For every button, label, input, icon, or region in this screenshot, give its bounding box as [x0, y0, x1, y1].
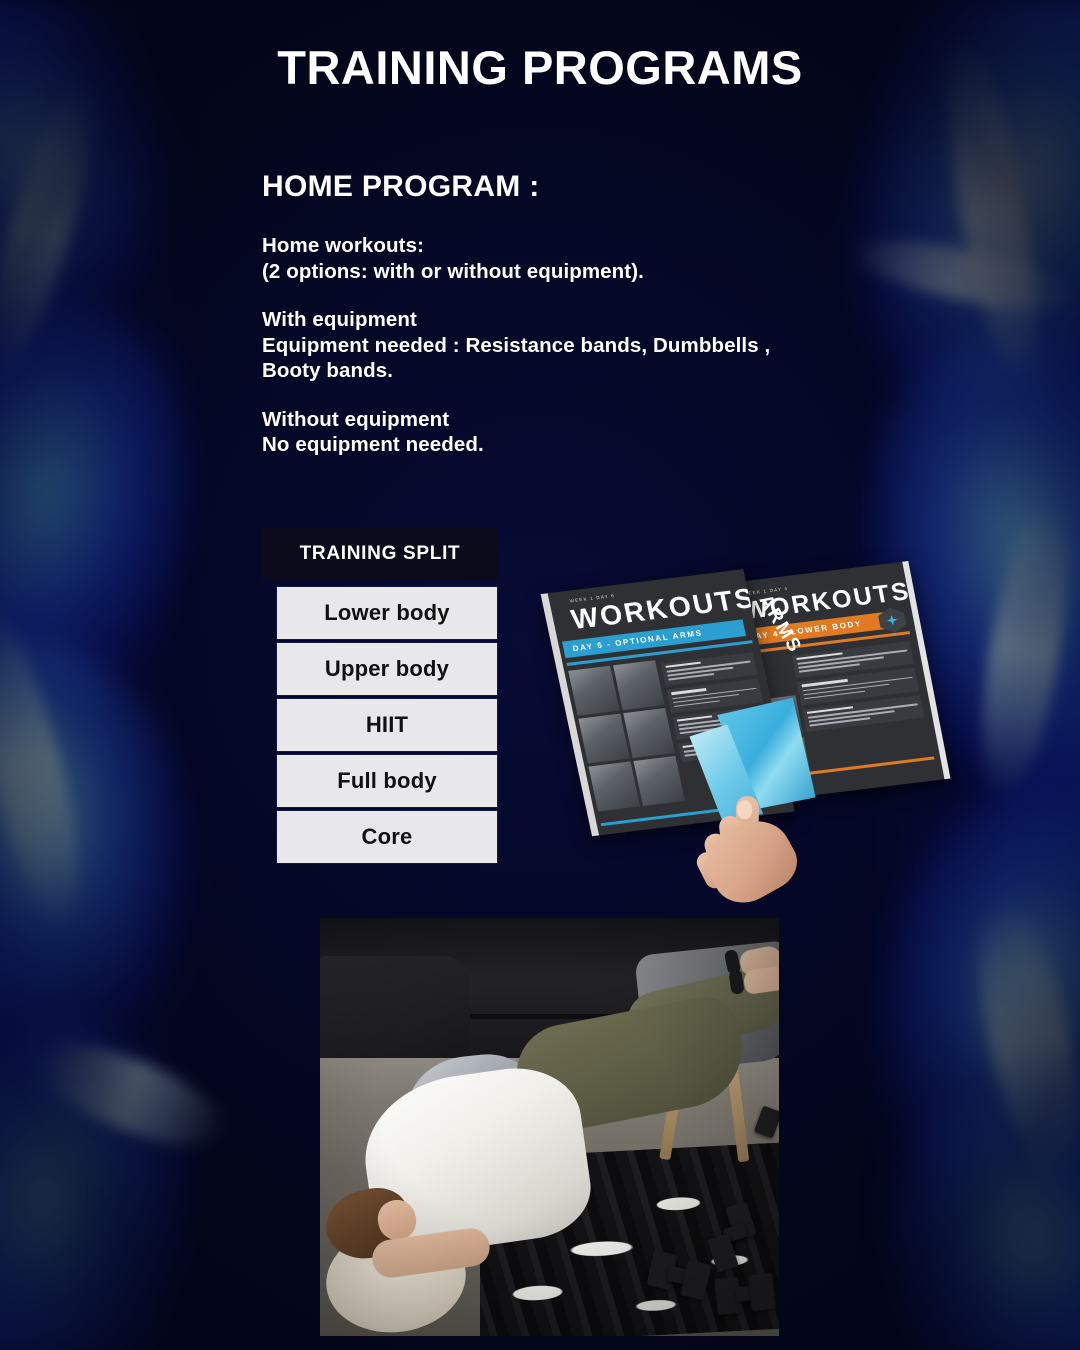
- body-line: (2 options: with or without equipment).: [262, 259, 902, 285]
- text-block-with-equipment: With equipment Equipment needed : Resist…: [262, 307, 902, 384]
- brochure-booklet: WEEK 1 DAY 4 WORKOUTS DAY 4 - LOWER BODY: [538, 514, 942, 856]
- brochure-right-text: [792, 641, 925, 736]
- body-line: With equipment: [262, 307, 902, 333]
- table-cell-label: Core: [362, 824, 413, 850]
- table-row[interactable]: Full body: [276, 754, 498, 808]
- fingernail: [737, 800, 752, 819]
- exercise-thumbnail: [568, 666, 619, 716]
- text-block-home-workouts: Home workouts: (2 options: with or witho…: [262, 233, 902, 284]
- brand-logo-icon: [877, 606, 908, 635]
- exercise-thumbnail: [589, 761, 640, 811]
- exercise-thumbnail: [633, 756, 684, 806]
- section-heading: HOME PROGRAM :: [262, 170, 540, 204]
- table-row[interactable]: HIIT: [276, 698, 498, 752]
- page-title: TRAINING PROGRAMS: [0, 40, 1080, 95]
- table-row[interactable]: Lower body: [276, 586, 498, 640]
- brochure-image: WEEK 1 DAY 4 WORKOUTS DAY 4 - LOWER BODY: [536, 528, 936, 873]
- section-body: Home workouts: (2 options: with or witho…: [262, 233, 902, 458]
- photo-vignette: [320, 918, 779, 1336]
- training-split-header: TRAINING SPLIT: [262, 528, 498, 580]
- table-cell-label: HIIT: [366, 712, 408, 738]
- body-line: Booty bands.: [262, 358, 902, 384]
- table-row[interactable]: Core: [276, 810, 498, 864]
- text-block-without-equipment: Without equipment No equipment needed.: [262, 407, 902, 458]
- slide-content: TRAINING PROGRAMS HOME PROGRAM : Home wo…: [0, 0, 1080, 1350]
- exercise-thumbnail: [623, 708, 674, 758]
- body-line: Home workouts:: [262, 233, 902, 259]
- table-cell-label: Lower body: [324, 600, 449, 626]
- table-cell-label: Full body: [337, 768, 437, 794]
- training-split-header-label: TRAINING SPLIT: [300, 543, 461, 565]
- body-line: No equipment needed.: [262, 432, 902, 458]
- table-cell-label: Upper body: [325, 656, 449, 682]
- exercise-thumbnail: [578, 714, 629, 764]
- workout-photo: [320, 918, 779, 1336]
- body-line: Without equipment: [262, 407, 902, 433]
- exercise-thumbnail: [613, 660, 664, 710]
- table-row[interactable]: Upper body: [276, 642, 498, 696]
- body-line: Equipment needed : Resistance bands, Dum…: [262, 333, 902, 359]
- palm: [695, 808, 806, 914]
- training-split-rows: Lower body Upper body HIIT Full body Cor…: [276, 586, 498, 866]
